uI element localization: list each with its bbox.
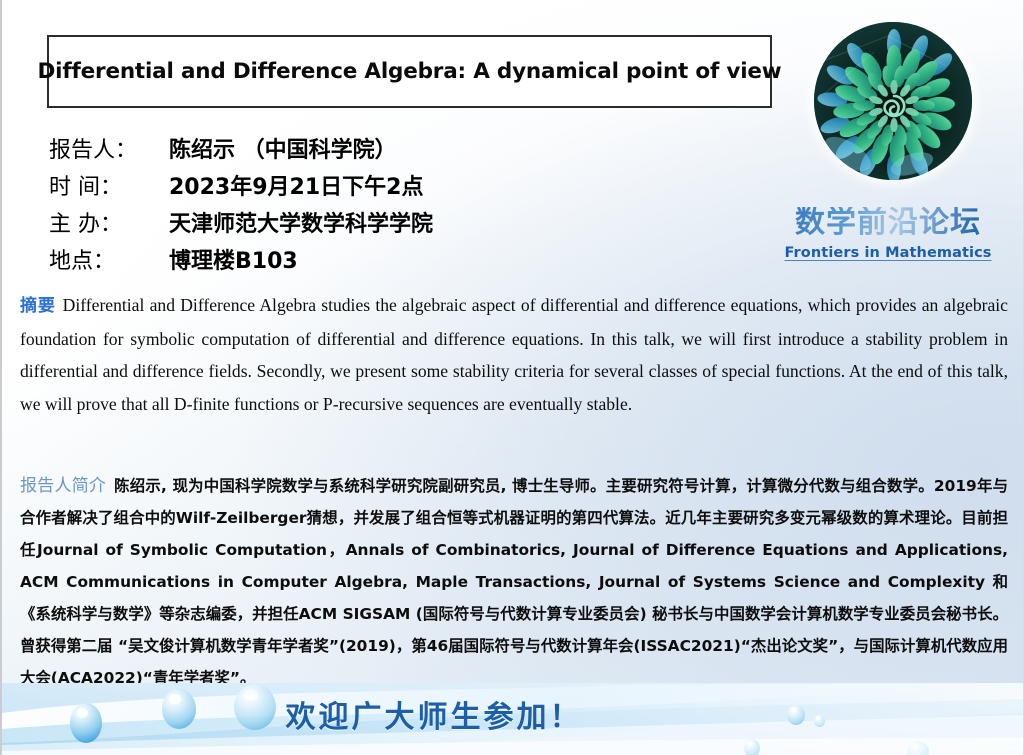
seminar-info-list: 报告人： 陈绍示 （中国科学院） 时 间： 2023年9月21日下午2点 主 办… [49, 132, 609, 280]
page-title: Differential and Difference Algebra: A d… [38, 59, 782, 84]
info-label-organizer: 主 办： [49, 206, 169, 238]
info-label-speaker: 报告人： [49, 132, 169, 164]
footer-banner: 欢迎广大师生参加！ [2, 683, 1024, 755]
abstract-label: 摘要 [20, 296, 56, 316]
water-droplet-icon [744, 739, 760, 755]
forum-brand: 数学前沿论坛 Frontiers in Mathematics [772, 207, 1004, 261]
info-label-venue: 地点： [49, 243, 169, 275]
brand-name-english: Frontiers in Mathematics [772, 245, 1004, 261]
brand-name-chinese: 数学前沿论坛 [772, 207, 1004, 239]
talk-title-box: Differential and Difference Algebra: A d… [47, 35, 772, 108]
speaker-bio-label: 报告人简介 [20, 476, 106, 496]
fractal-spiral-icon [814, 22, 972, 180]
abstract-section: 摘要Differential and Difference Algebra st… [20, 289, 1008, 420]
info-value-speaker: 陈绍示 （中国科学院） [169, 132, 397, 164]
seminar-poster: Differential and Difference Algebra: A d… [0, 0, 1024, 755]
footer-welcome-text: 欢迎广大师生参加！ [2, 692, 1024, 736]
logo-container [814, 22, 972, 180]
info-value-venue: 博理楼B103 [169, 243, 298, 275]
info-row-speaker: 报告人： 陈绍示 （中国科学院） [49, 132, 609, 169]
info-label-time: 时 间： [49, 169, 169, 201]
info-value-organizer: 天津师范大学数学科学学院 [169, 206, 433, 238]
speaker-bio-section: 报告人简介陈绍示, 现为中国科学院数学与系统科学研究院副研究员, 博士生导师。主… [20, 470, 1008, 694]
info-row-time: 时 间： 2023年9月21日下午2点 [49, 169, 609, 206]
info-row-organizer: 主 办： 天津师范大学数学科学学院 [49, 206, 609, 243]
abstract-text: Differential and Difference Algebra stud… [20, 295, 1008, 414]
info-value-time: 2023年9月21日下午2点 [169, 169, 423, 201]
info-row-venue: 地点： 博理楼B103 [49, 243, 609, 280]
speaker-bio-text: 陈绍示, 现为中国科学院数学与系统科学研究院副研究员, 博士生导师。主要研究符号… [20, 477, 1008, 687]
